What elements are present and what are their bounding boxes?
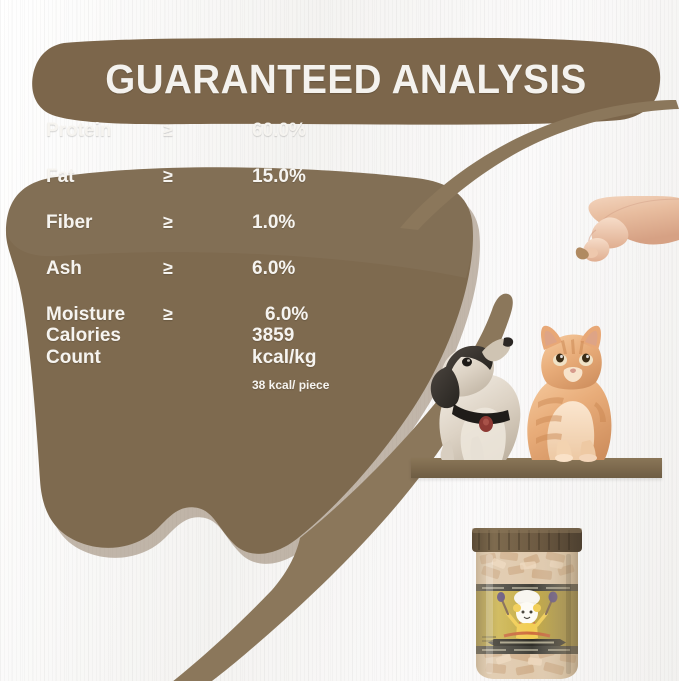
table-row: Protein ≥ 60.0% — [0, 120, 360, 166]
hand-holding-treat-image — [566, 196, 679, 264]
nutrient-label: Fat — [46, 166, 75, 188]
nutrient-operator: ≥ — [163, 258, 173, 279]
table-row: Fat ≥ 15.0% — [0, 166, 360, 212]
nutrient-operator: ≥ — [163, 212, 173, 233]
nutrition-table: Protein ≥ 60.0% Fat ≥ 15.0% Fiber ≥ 1.0%… — [0, 120, 360, 350]
calories-label-line2: Count — [46, 347, 121, 369]
calories-value-line2: kcal/kg — [252, 347, 316, 369]
calories-label-line1: Calories — [46, 325, 121, 347]
product-infographic: GUARANTEED ANALYSIS Protein ≥ 60.0% Fat — [0, 0, 679, 681]
calories-label: Calories Count — [46, 325, 121, 369]
calories-block: Calories Count 3859 kcal/kg 38 kcal/ pie… — [0, 325, 360, 435]
nutrient-value: 6.0% — [252, 258, 295, 280]
nutrient-label: Fiber — [46, 212, 92, 234]
calories-value: 3859 kcal/kg — [252, 325, 316, 369]
shelf — [411, 458, 662, 478]
nutrient-operator: ≥ — [163, 120, 173, 141]
cat-image — [516, 310, 626, 460]
table-row: Ash ≥ 6.0% — [0, 258, 360, 304]
nutrient-value: 1.0% — [252, 212, 295, 234]
table-row: Fiber ≥ 1.0% — [0, 212, 360, 258]
nutrient-operator: ≥ — [163, 166, 173, 187]
calories-per-piece: 38 kcal/ piece — [252, 378, 329, 392]
nutrient-value: 6.0% — [265, 304, 308, 326]
calories-value-line1: 3859 — [252, 325, 316, 347]
nutrient-value: 60.0% — [252, 120, 306, 142]
nutrient-value: 15.0% — [252, 166, 306, 188]
nutrient-label: Moisture — [46, 304, 125, 326]
nutrient-label: Ash — [46, 258, 82, 280]
product-jar-image — [466, 528, 588, 681]
nutrient-label: Protein — [46, 120, 111, 142]
nutrient-operator: ≥ — [163, 304, 173, 325]
